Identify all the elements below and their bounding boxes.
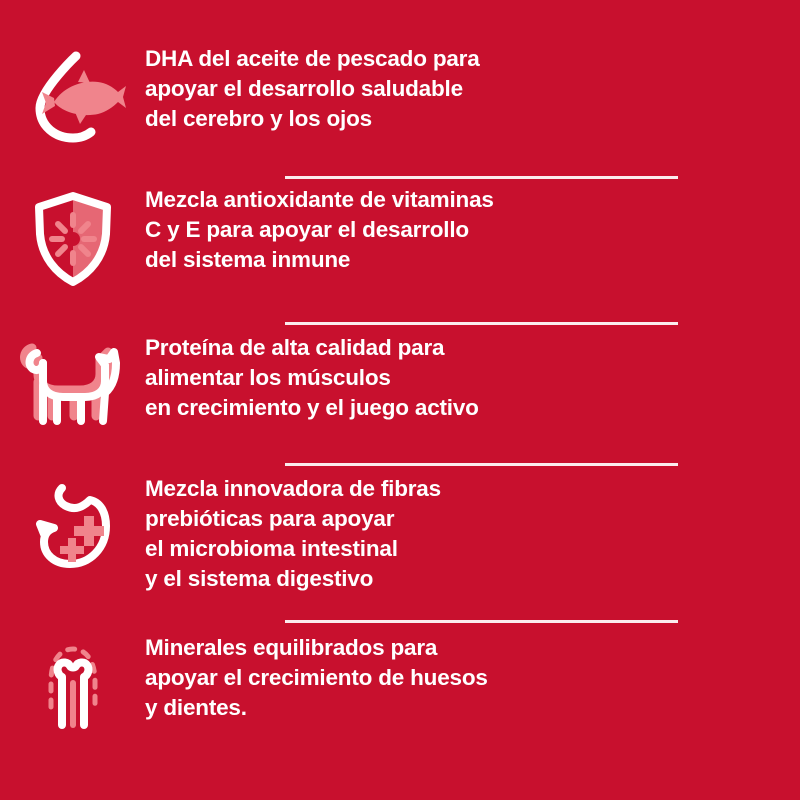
benefit-label-antioxidant: Mezcla antioxidante de vitaminas C y E p… bbox=[145, 185, 700, 275]
benefit-item-minerals: Minerales equilibrados para apoyar el cr… bbox=[0, 631, 700, 740]
benefit-item-fiber: Mezcla innovadora de fibras prebióticas … bbox=[0, 472, 700, 594]
divider-spacer bbox=[0, 176, 285, 179]
divider-4 bbox=[0, 620, 700, 623]
divider-line bbox=[285, 620, 678, 623]
divider-2 bbox=[0, 322, 700, 325]
benefit-item-protein: Proteína de alta calidad para alimentar … bbox=[0, 331, 700, 435]
divider-spacer bbox=[0, 322, 285, 325]
divider-line bbox=[285, 322, 678, 325]
benefit-item-antioxidant: Mezcla antioxidante de vitaminas C y E p… bbox=[0, 183, 700, 292]
benefits-infographic: DHA del aceite de pescado para apoyar el… bbox=[0, 0, 800, 800]
cat-muscle-icon bbox=[0, 331, 145, 435]
divider-line bbox=[285, 463, 678, 466]
divider-spacer bbox=[0, 620, 285, 623]
divider-line bbox=[285, 176, 678, 179]
benefit-text-cell: DHA del aceite de pescado para apoyar el… bbox=[145, 42, 700, 134]
divider-spacer bbox=[0, 463, 285, 466]
benefit-text-cell: Minerales equilibrados para apoyar el cr… bbox=[145, 631, 700, 723]
benefit-label-fiber: Mezcla innovadora de fibras prebióticas … bbox=[145, 474, 700, 594]
benefit-text-cell: Mezcla innovadora de fibras prebióticas … bbox=[145, 472, 700, 594]
divider-1 bbox=[0, 176, 700, 179]
benefit-label-protein: Proteína de alta calidad para alimentar … bbox=[145, 333, 700, 423]
benefit-label-dha: DHA del aceite de pescado para apoyar el… bbox=[145, 44, 700, 134]
benefit-item-dha: DHA del aceite de pescado para apoyar el… bbox=[0, 42, 700, 146]
benefit-text-cell: Proteína de alta calidad para alimentar … bbox=[145, 331, 700, 423]
stomach-digestive-icon bbox=[0, 472, 145, 581]
shield-immune-icon bbox=[0, 183, 145, 292]
divider-3 bbox=[0, 463, 700, 466]
benefit-label-minerals: Minerales equilibrados para apoyar el cr… bbox=[145, 633, 700, 723]
benefit-text-cell: Mezcla antioxidante de vitaminas C y E p… bbox=[145, 183, 700, 275]
bone-minerals-icon bbox=[0, 631, 145, 740]
fish-oil-droplet-icon bbox=[0, 42, 145, 146]
